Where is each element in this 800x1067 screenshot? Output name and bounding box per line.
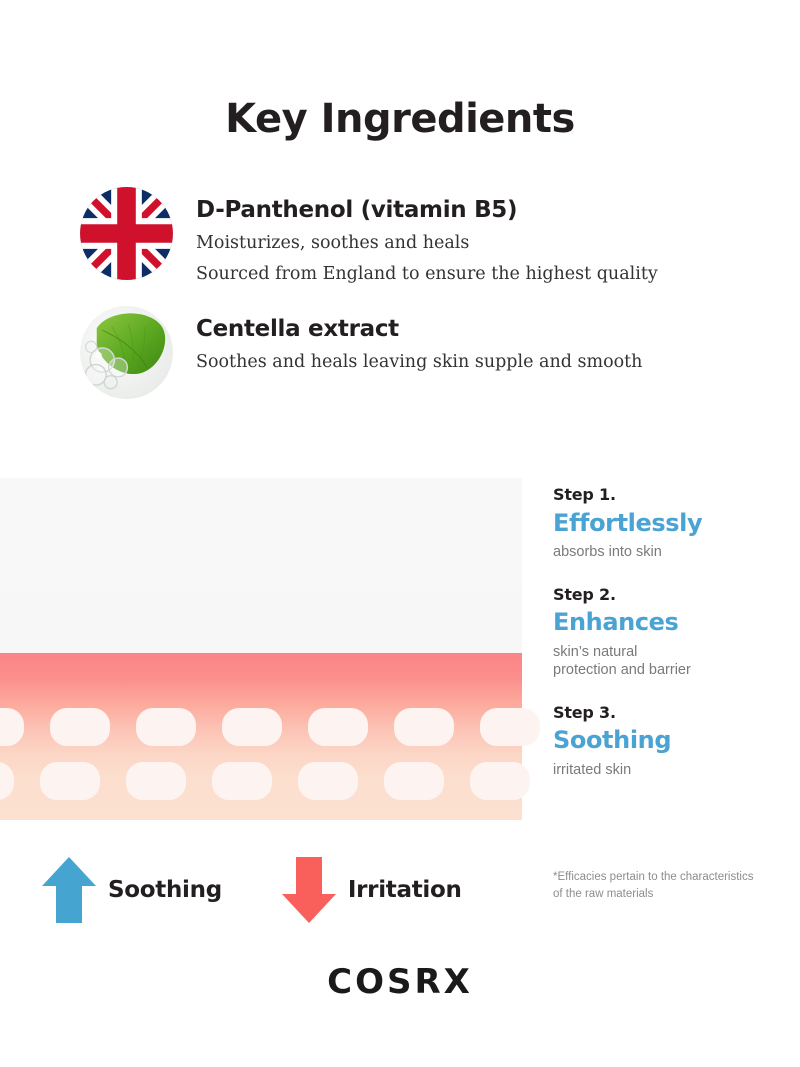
ingredient-desc-line1: Moisturizes, soothes and heals [196,228,658,259]
step-item-3: Step 3. Soothing irritated skin [553,702,793,780]
ingredient-desc-line1: Soothes and heals leaving skin supple an… [196,347,642,378]
step-label: Step 1. [553,484,793,506]
skin-cell [0,708,24,746]
ingredients-list: D-Panthenol (vitamin B5) Moisturizes, so… [0,186,800,400]
step-description-line: skin’s natural [553,643,793,662]
arrow-up-icon [40,855,98,925]
skin-cell [0,762,14,800]
ingredient-item-centella: Centella extract Soothes and heals leavi… [0,305,800,400]
step-description-line: protection and barrier [553,661,793,680]
step-description: skin’s natural protection and barrier [553,643,793,680]
step-description-line: irritated skin [553,761,793,780]
skin-cell [394,708,454,746]
skin-surface-layer [0,478,522,653]
footnote: *Efficacies pertain to the characteristi… [553,869,788,902]
ingredient-desc-line2: Sourced from England to ensure the highe… [196,259,658,290]
skin-cell [40,762,100,800]
skin-cell [480,708,540,746]
skin-cell [222,708,282,746]
ingredient-item-d-panthenol: D-Panthenol (vitamin B5) Moisturizes, so… [0,186,800,291]
legend: Soothing Irritation [40,855,510,925]
skin-cell [136,708,196,746]
legend-item-irritation: Irritation [280,855,462,925]
skin-cell [126,762,186,800]
steps-list: Step 1. Effortlessly absorbs into skin S… [553,484,793,779]
uk-flag-icon [80,186,173,281]
skin-cell [308,708,368,746]
ingredient-text: D-Panthenol (vitamin B5) Moisturizes, so… [196,186,658,291]
legend-label: Irritation [348,877,462,903]
skin-cell [50,708,110,746]
ingredient-name: D-Panthenol (vitamin B5) [196,198,658,223]
skin-cell [212,762,272,800]
brand-logo: COSRX [0,962,800,1002]
step-headline: Effortlessly [553,507,793,539]
skin-cell [470,762,530,800]
legend-label: Soothing [108,877,222,903]
footnote-line: *Efficacies pertain to the characteristi… [553,869,788,886]
ingredient-text: Centella extract Soothes and heals leavi… [196,305,642,378]
skin-cell [384,762,444,800]
skin-cell-row-lower [0,762,554,800]
step-headline: Soothing [553,724,793,756]
ingredient-name: Centella extract [196,317,642,342]
footnote-line: of the raw materials [553,886,788,903]
step-item-2: Step 2. Enhances skin’s natural protecti… [553,584,793,680]
step-label: Step 3. [553,702,793,724]
page-title: Key Ingredients [0,96,800,142]
step-label: Step 2. [553,584,793,606]
step-headline: Enhances [553,606,793,638]
skin-cell-row-upper [0,708,564,746]
skin-cell [298,762,358,800]
legend-item-soothing: Soothing [40,855,222,925]
centella-leaf-photo [80,305,173,400]
step-item-1: Step 1. Effortlessly absorbs into skin [553,484,793,562]
arrow-down-icon [280,855,338,925]
step-description: absorbs into skin [553,543,793,562]
step-description-line: absorbs into skin [553,543,793,562]
step-description: irritated skin [553,761,793,780]
